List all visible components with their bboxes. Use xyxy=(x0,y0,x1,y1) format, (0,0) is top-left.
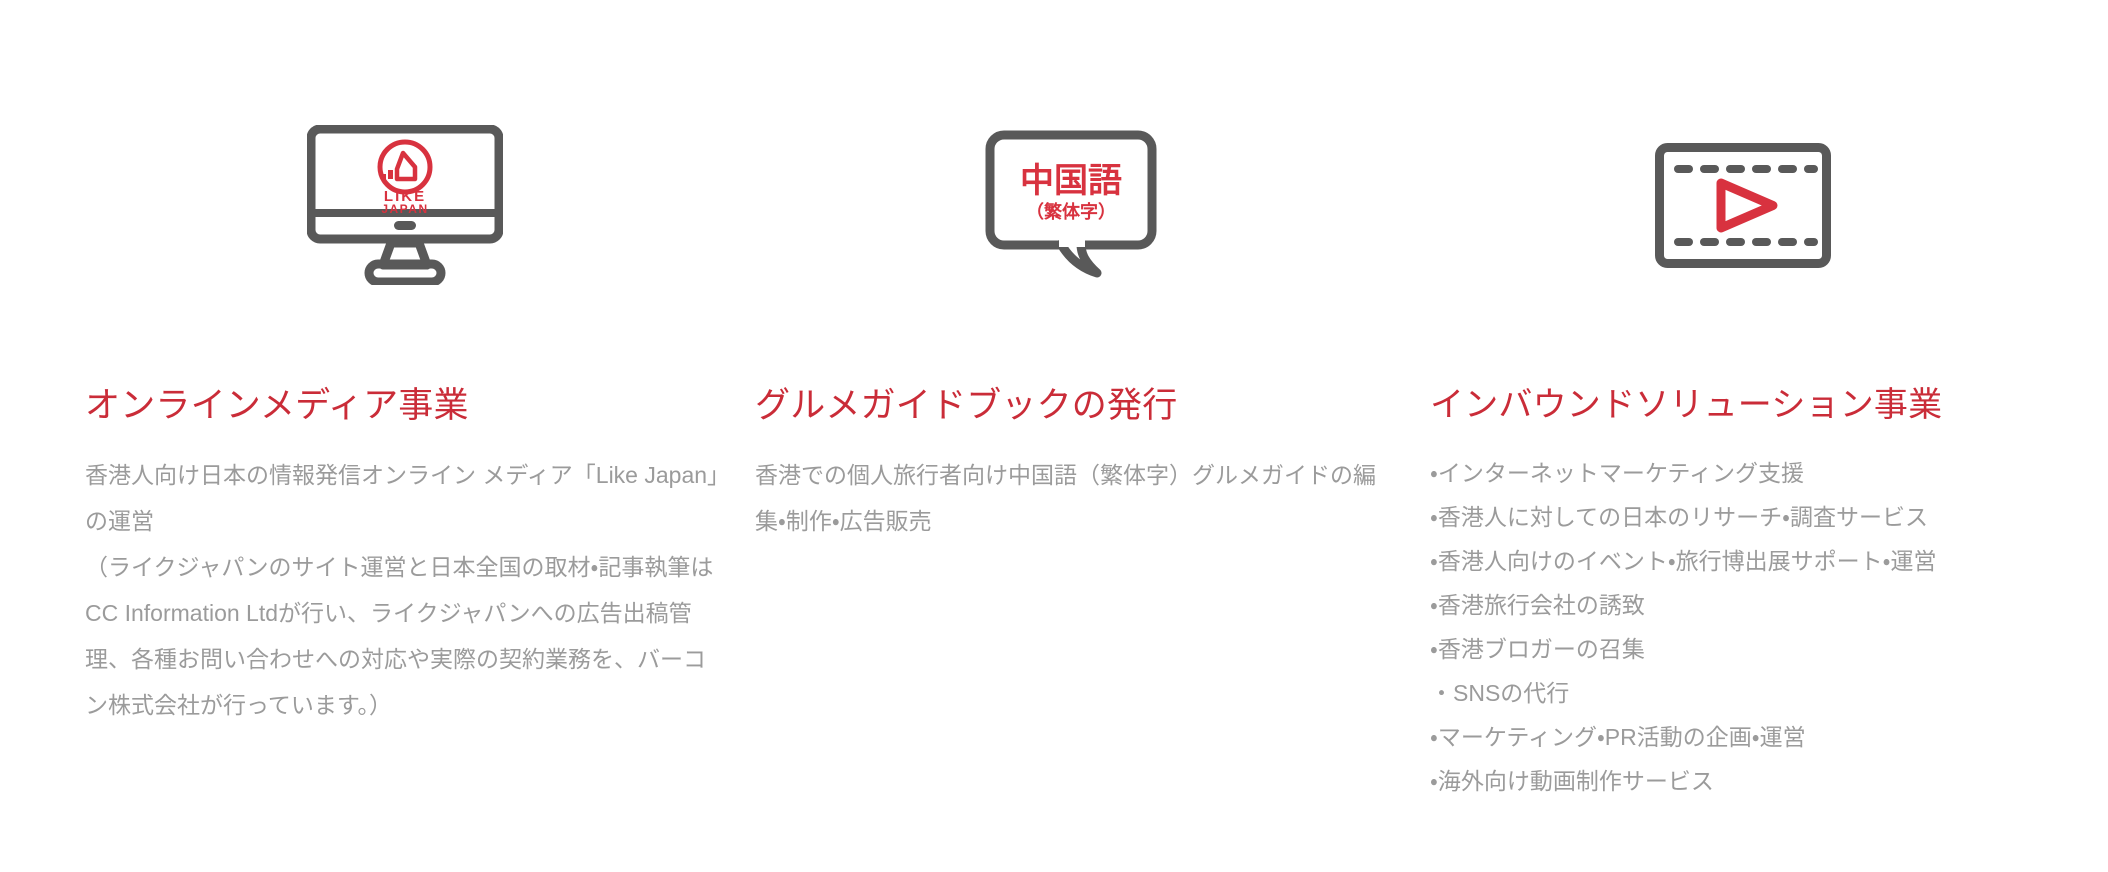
list-item: ・香港ブロガーの召集 xyxy=(1430,627,2045,671)
film-perforations-top xyxy=(1674,165,1818,173)
service-column-gourmet-guidebook: 中国語 （繁体字） グルメガイドブックの発行 香港での個人旅行者向け中国語（繁体… xyxy=(755,0,1430,544)
list-item: ・海外向け動画制作サービス xyxy=(1430,759,2045,803)
services-section: LIKE JAPAN オンラインメディア事業 香港人向け日本の情報発信オンライン… xyxy=(0,0,2108,872)
service-title-inbound-solution: インバウンドソリューション事業 xyxy=(1430,386,2045,425)
list-item: ・香港人に対しての日本のリサーチ・調査サービス xyxy=(1430,495,2045,539)
list-item: ・香港旅行会社の誘致 xyxy=(1430,583,2045,627)
inbound-service-list: ・インターネットマーケティング支援 ・香港人に対しての日本のリサーチ・調査サービ… xyxy=(1430,451,2045,803)
icon-container-gourmet-guidebook: 中国語 （繁体字） xyxy=(755,0,1430,300)
film-perforations-bottom xyxy=(1674,238,1818,246)
chinese-language-label-line2: （繁体字） xyxy=(1026,201,1116,223)
service-column-online-media: LIKE JAPAN オンラインメディア事業 香港人向け日本の情報発信オンライン… xyxy=(85,0,755,728)
list-item: ・香港人向けのイベント・旅行博出展サポート・運営 xyxy=(1430,539,2045,583)
service-description-online-media: 香港人向け日本の情報発信オンライン メディア「Like Japan」の運営 （ラ… xyxy=(85,452,725,728)
icon-container-online-media: LIKE JAPAN xyxy=(85,0,755,300)
service-column-inbound-solution: インバウンドソリューション事業 ・インターネットマーケティング支援 ・香港人に対… xyxy=(1430,0,2045,803)
services-grid: LIKE JAPAN オンラインメディア事業 香港人向け日本の情報発信オンライン… xyxy=(85,0,2045,803)
service-title-gourmet-guidebook: グルメガイドブックの発行 xyxy=(755,386,1430,426)
chinese-language-label-line1: 中国語 xyxy=(1020,161,1122,201)
list-item: ・マーケティング・PR活動の企画・運営 xyxy=(1430,715,2045,759)
film-strip-play-icon xyxy=(1655,143,1831,268)
service-description-gourmet-guidebook: 香港での個人旅行者向け中国語（繁体字）グルメガイドの編集・制作・広告販売 xyxy=(755,452,1380,544)
play-triangle-icon xyxy=(1721,183,1773,228)
list-item: ・インターネットマーケティング支援 xyxy=(1430,451,2045,495)
desktop-monitor-icon: LIKE JAPAN xyxy=(307,125,503,285)
service-title-online-media: オンラインメディア事業 xyxy=(85,386,755,426)
like-japan-logo-line2: JAPAN xyxy=(381,202,428,216)
icon-container-inbound-solution xyxy=(1430,0,2045,300)
like-japan-logo xyxy=(380,142,430,192)
speech-bubble-icon: 中国語 （繁体字） xyxy=(985,130,1157,280)
list-item: ・SNSの代行 xyxy=(1430,671,2045,715)
